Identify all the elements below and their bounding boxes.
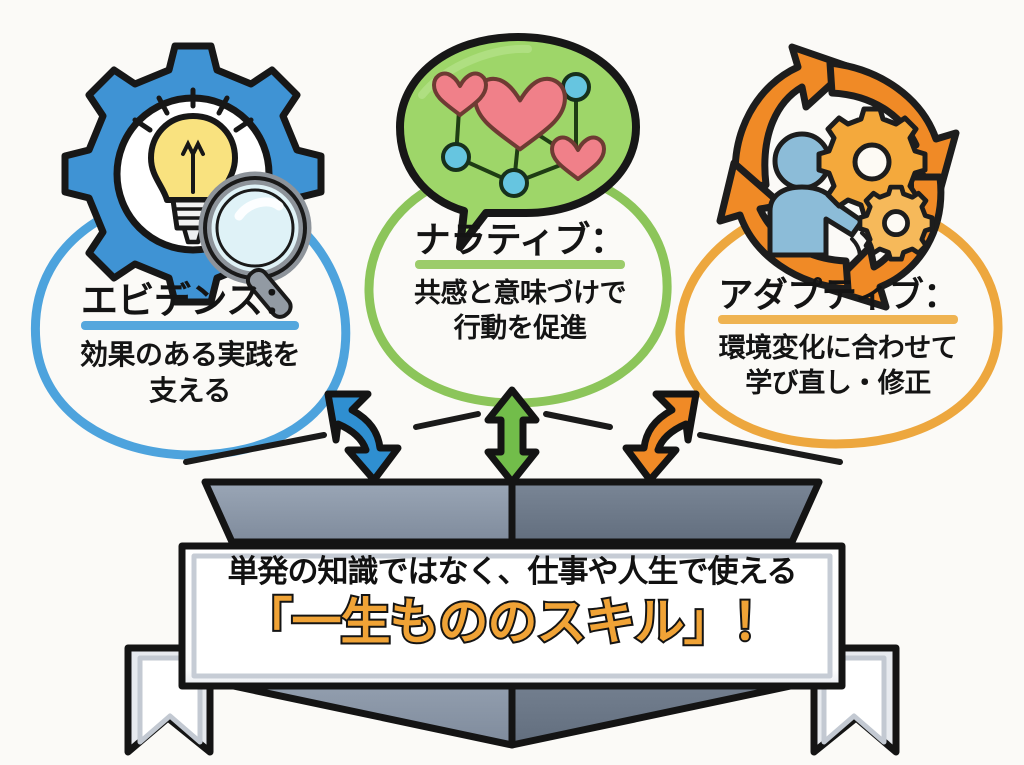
pillar-evidence-body-line2: 支える bbox=[32, 373, 348, 409]
pillar-narrative: ナラティブ： 共感と意味づけで 行動を促進 bbox=[370, 222, 670, 345]
pillar-narrative-underline bbox=[415, 260, 626, 269]
pillar-adaptive-body-line1: 環境変化に合わせて bbox=[678, 331, 998, 366]
pillar-adaptive: アダプティブ： 環境変化に合わせて 学び直し・修正 bbox=[678, 278, 998, 400]
cycle-arrows-person-gears-icon bbox=[720, 47, 956, 307]
speech-bubble-hearts-network-icon bbox=[400, 37, 636, 247]
pillar-evidence-body: 効果のある実践を 支える bbox=[32, 337, 348, 409]
pillar-evidence-body-line1: 効果のある実践を bbox=[32, 337, 348, 373]
infographic-canvas: エビデンス： 効果のある実践を 支える ナラティブ： 共感と意味づけで 行動を促… bbox=[0, 0, 1024, 765]
pillar-evidence-underline bbox=[81, 321, 299, 330]
ribbon-banner bbox=[128, 478, 896, 752]
orange-double-arrow-diagonal bbox=[626, 394, 696, 480]
pillar-narrative-body-line1: 共感と意味づけで bbox=[370, 276, 670, 311]
pillar-evidence: エビデンス： 効果のある実践を 支える bbox=[32, 282, 348, 409]
pillar-narrative-body-line2: 行動を促進 bbox=[370, 311, 670, 346]
pillar-narrative-title: ナラティブ： bbox=[415, 222, 626, 269]
pillar-adaptive-body-line2: 学び直し・修正 bbox=[678, 366, 998, 401]
pillar-narrative-body: 共感と意味づけで 行動を促進 bbox=[370, 276, 670, 345]
pillar-evidence-title: エビデンス： bbox=[81, 282, 299, 330]
pillar-adaptive-body: 環境変化に合わせて 学び直し・修正 bbox=[678, 331, 998, 400]
pillar-adaptive-title: アダプティブ： bbox=[718, 278, 957, 324]
pillar-adaptive-underline bbox=[718, 315, 957, 324]
